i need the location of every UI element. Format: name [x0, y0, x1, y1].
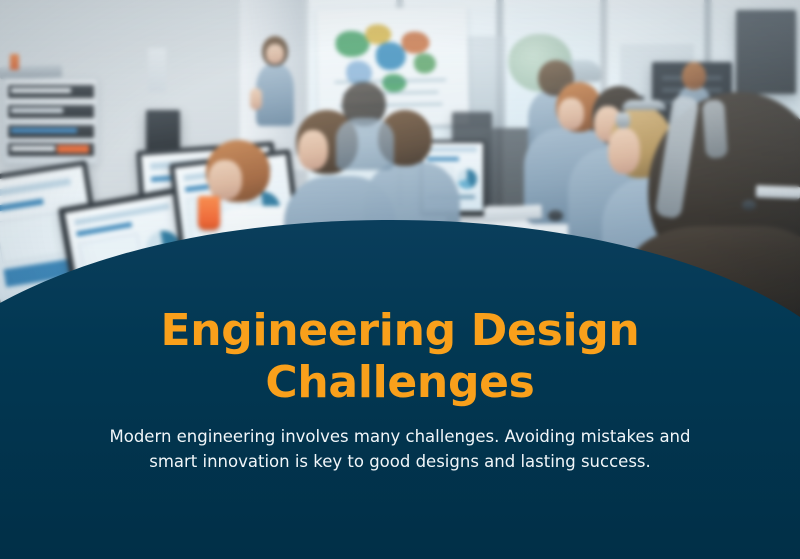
- page-title: Engineering Design Challenges: [0, 305, 800, 409]
- subtitle-line-1: Modern engineering involves many challen…: [60, 424, 740, 449]
- poster-content: Engineering Design Challenges Modern eng…: [0, 0, 800, 559]
- subtitle-line-2: smart innovation is key to good designs …: [60, 449, 740, 474]
- poster-canvas: Engineering Design Challenges Modern eng…: [0, 0, 800, 559]
- page-subtitle: Modern engineering involves many challen…: [60, 424, 740, 474]
- title-line-2: Challenges: [0, 357, 800, 409]
- title-line-1: Engineering Design: [0, 305, 800, 357]
